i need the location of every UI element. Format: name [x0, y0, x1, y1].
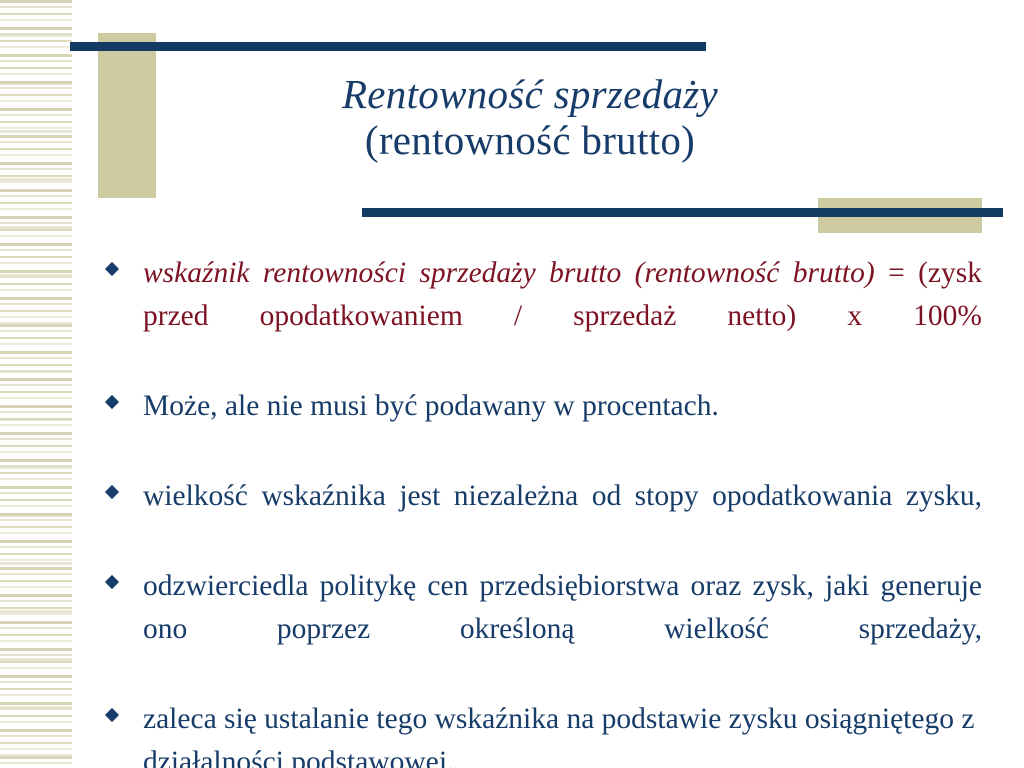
diamond-bullet-icon — [105, 708, 119, 722]
title-line-secondary: (rentowność brutto) — [170, 118, 890, 164]
slide-canvas: Rentowność sprzedaży (rentowność brutto)… — [0, 0, 1024, 768]
list-item-text: odzwierciedla politykę cen przedsiębiors… — [143, 565, 982, 694]
list-item: Może, ale nie musi być podawany w procen… — [104, 385, 982, 471]
list-item-rest: wielkość wskaźnika jest niezależna od st… — [143, 480, 982, 512]
list-item-text: zaleca się ustalanie tego wskaźnika na p… — [143, 698, 982, 768]
list-item-rest: Może, ale nie musi być podawany w procen… — [143, 390, 719, 422]
title-line-primary: Rentowność sprzedaży — [170, 72, 890, 118]
diamond-bullet-icon — [105, 575, 119, 589]
left-stripe-decoration — [0, 0, 72, 768]
list-item-rest: zaleca się ustalanie tego wskaźnika na p… — [143, 703, 974, 768]
list-item: wielkość wskaźnika jest niezależna od st… — [104, 475, 982, 561]
slide-title: Rentowność sprzedaży (rentowność brutto) — [170, 72, 890, 164]
diamond-bullet-icon — [105, 395, 119, 409]
list-item: wskaźnik rentowności sprzedaży brutto (r… — [104, 252, 982, 381]
list-item-rest: odzwierciedla politykę cen przedsiębiors… — [143, 570, 982, 645]
list-item-emphasis: wskaźnik rentowności sprzedaży brutto (r… — [143, 257, 875, 289]
bullet-list: wskaźnik rentowności sprzedaży brutto (r… — [104, 252, 982, 768]
list-item: zaleca się ustalanie tego wskaźnika na p… — [104, 698, 982, 768]
diamond-bullet-icon — [105, 262, 119, 276]
khaki-accent-rectangle-top — [98, 33, 156, 198]
list-item-text: wielkość wskaźnika jest niezależna od st… — [143, 475, 982, 561]
list-item-text: wskaźnik rentowności sprzedaży brutto (r… — [143, 252, 982, 381]
list-item-text: Może, ale nie musi być podawany w procen… — [143, 385, 982, 471]
navy-horizontal-rule-top — [70, 42, 706, 51]
navy-horizontal-rule-bottom — [362, 208, 1003, 217]
list-item: odzwierciedla politykę cen przedsiębiors… — [104, 565, 982, 694]
diamond-bullet-icon — [105, 485, 119, 499]
